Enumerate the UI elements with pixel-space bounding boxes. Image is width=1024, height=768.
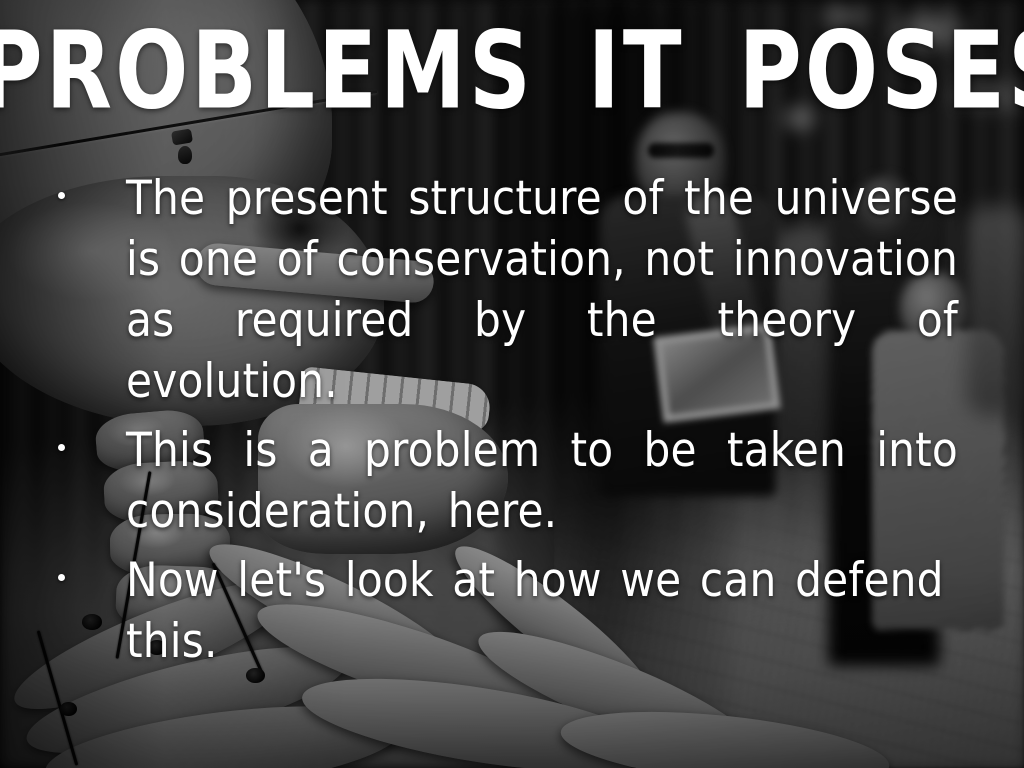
bullet-dot-icon xyxy=(58,444,65,451)
list-item: This is a problem to be taken into consi… xyxy=(50,420,958,542)
bullet-dot-icon xyxy=(58,574,65,581)
list-item: Now let's look at how we can defend this… xyxy=(50,550,958,672)
bullet-text: Now let's look at how we can defend this… xyxy=(126,550,958,672)
slide-content: PROBLEMS IT POSES The present structure … xyxy=(0,0,1024,768)
presentation-slide: PROBLEMS IT POSES The present structure … xyxy=(0,0,1024,768)
slide-title: PROBLEMS IT POSES xyxy=(0,18,1024,125)
bullet-text: The present structure of the universe is… xyxy=(126,168,958,412)
bullet-list: The present structure of the universe is… xyxy=(50,168,958,680)
bullet-text: This is a problem to be taken into consi… xyxy=(126,420,958,542)
list-item: The present structure of the universe is… xyxy=(50,168,958,412)
bullet-dot-icon xyxy=(58,192,65,199)
